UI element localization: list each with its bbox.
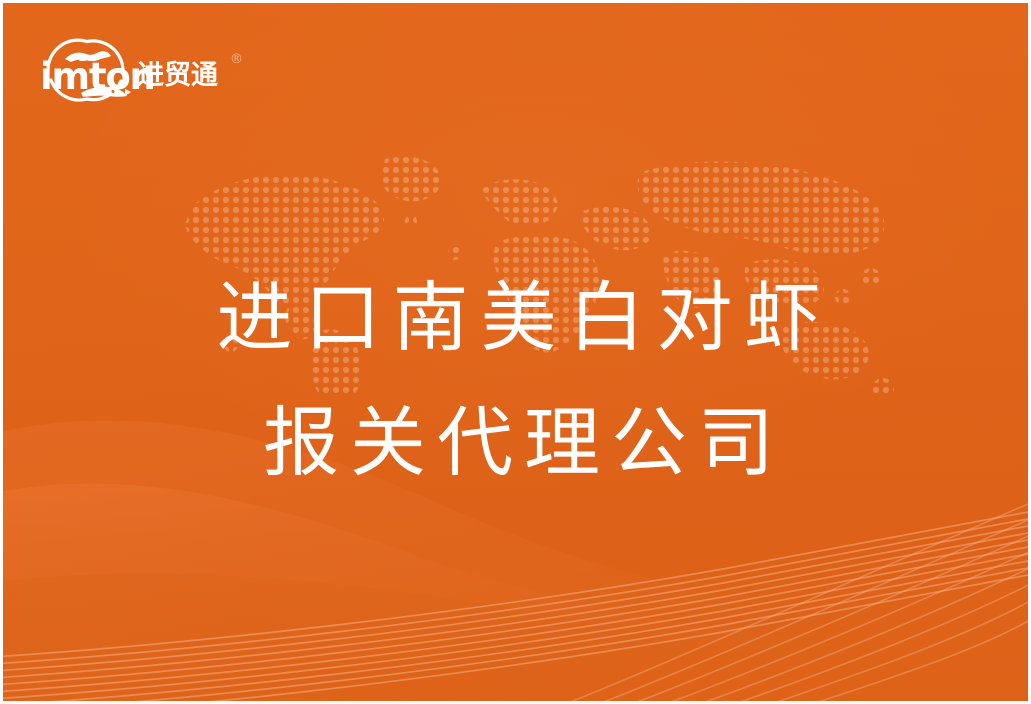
promotional-banner: imton 进贸通 ® 进口南美白对虾 报关代理公司 — [0, 0, 1031, 704]
headline-line-1: 进口南美白对虾 — [3, 255, 1031, 380]
logo-chinese-name: 进贸通 — [137, 62, 218, 89]
headline-block: 进口南美白对虾 报关代理公司 — [3, 255, 1031, 505]
registered-trademark-icon: ® — [230, 53, 243, 66]
headline-line-2: 报关代理公司 — [3, 380, 1031, 505]
company-logo[interactable]: imton 进贸通 ® — [39, 31, 219, 109]
